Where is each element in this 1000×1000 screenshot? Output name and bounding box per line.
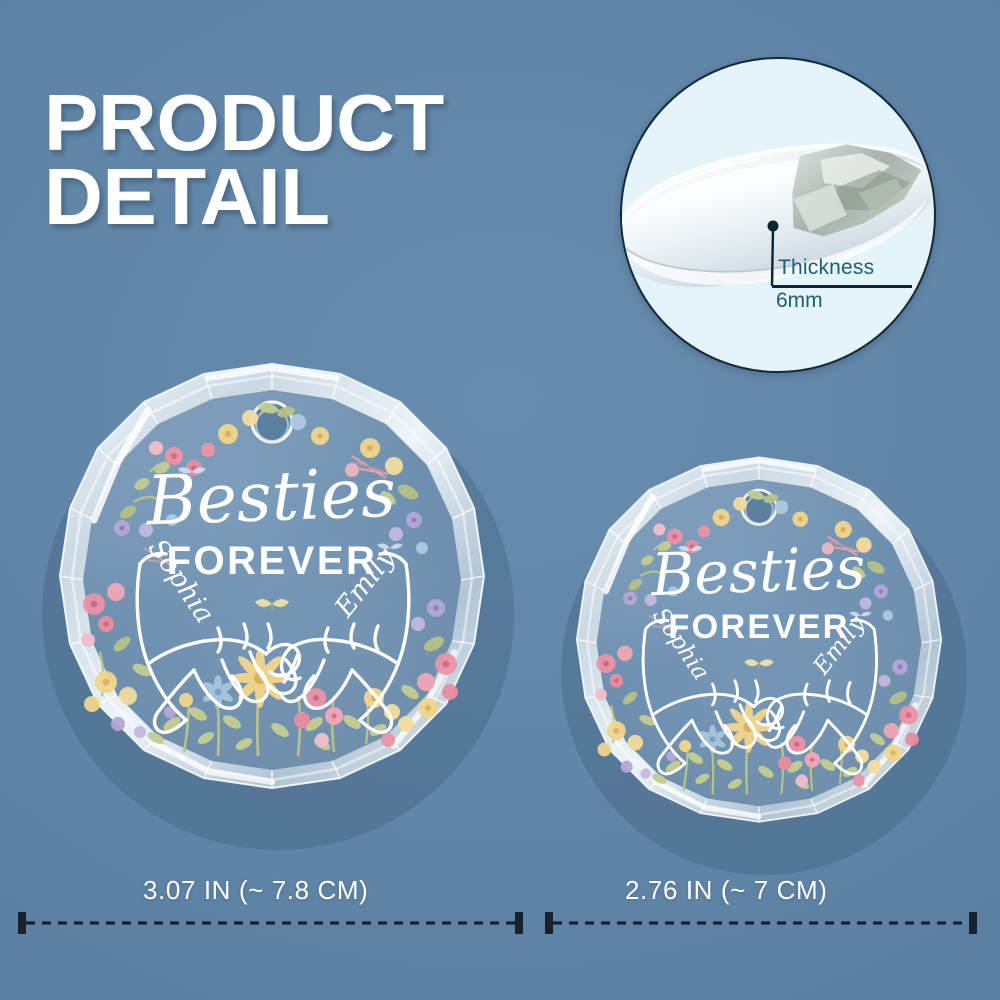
dimension-label-small: 2.76 IN (~ 7 CM) <box>625 875 828 906</box>
thickness-detail-inset: Thickness 6mm <box>620 57 936 373</box>
product-detail-canvas: PRODUCT DETAIL <box>0 0 1000 1000</box>
ornament-large[interactable] <box>22 352 522 857</box>
ornament-small[interactable] <box>543 447 975 881</box>
page-title: PRODUCT DETAIL <box>44 86 444 233</box>
page-title-line-1: PRODUCT <box>44 86 444 160</box>
glass-edge-photo <box>620 108 936 317</box>
dimension-label-large: 3.07 IN (~ 7.8 CM) <box>143 875 368 906</box>
dimension-arrow-large <box>18 912 523 934</box>
dimension-arrow-small <box>545 912 977 934</box>
page-title-line-2: DETAIL <box>44 160 444 234</box>
